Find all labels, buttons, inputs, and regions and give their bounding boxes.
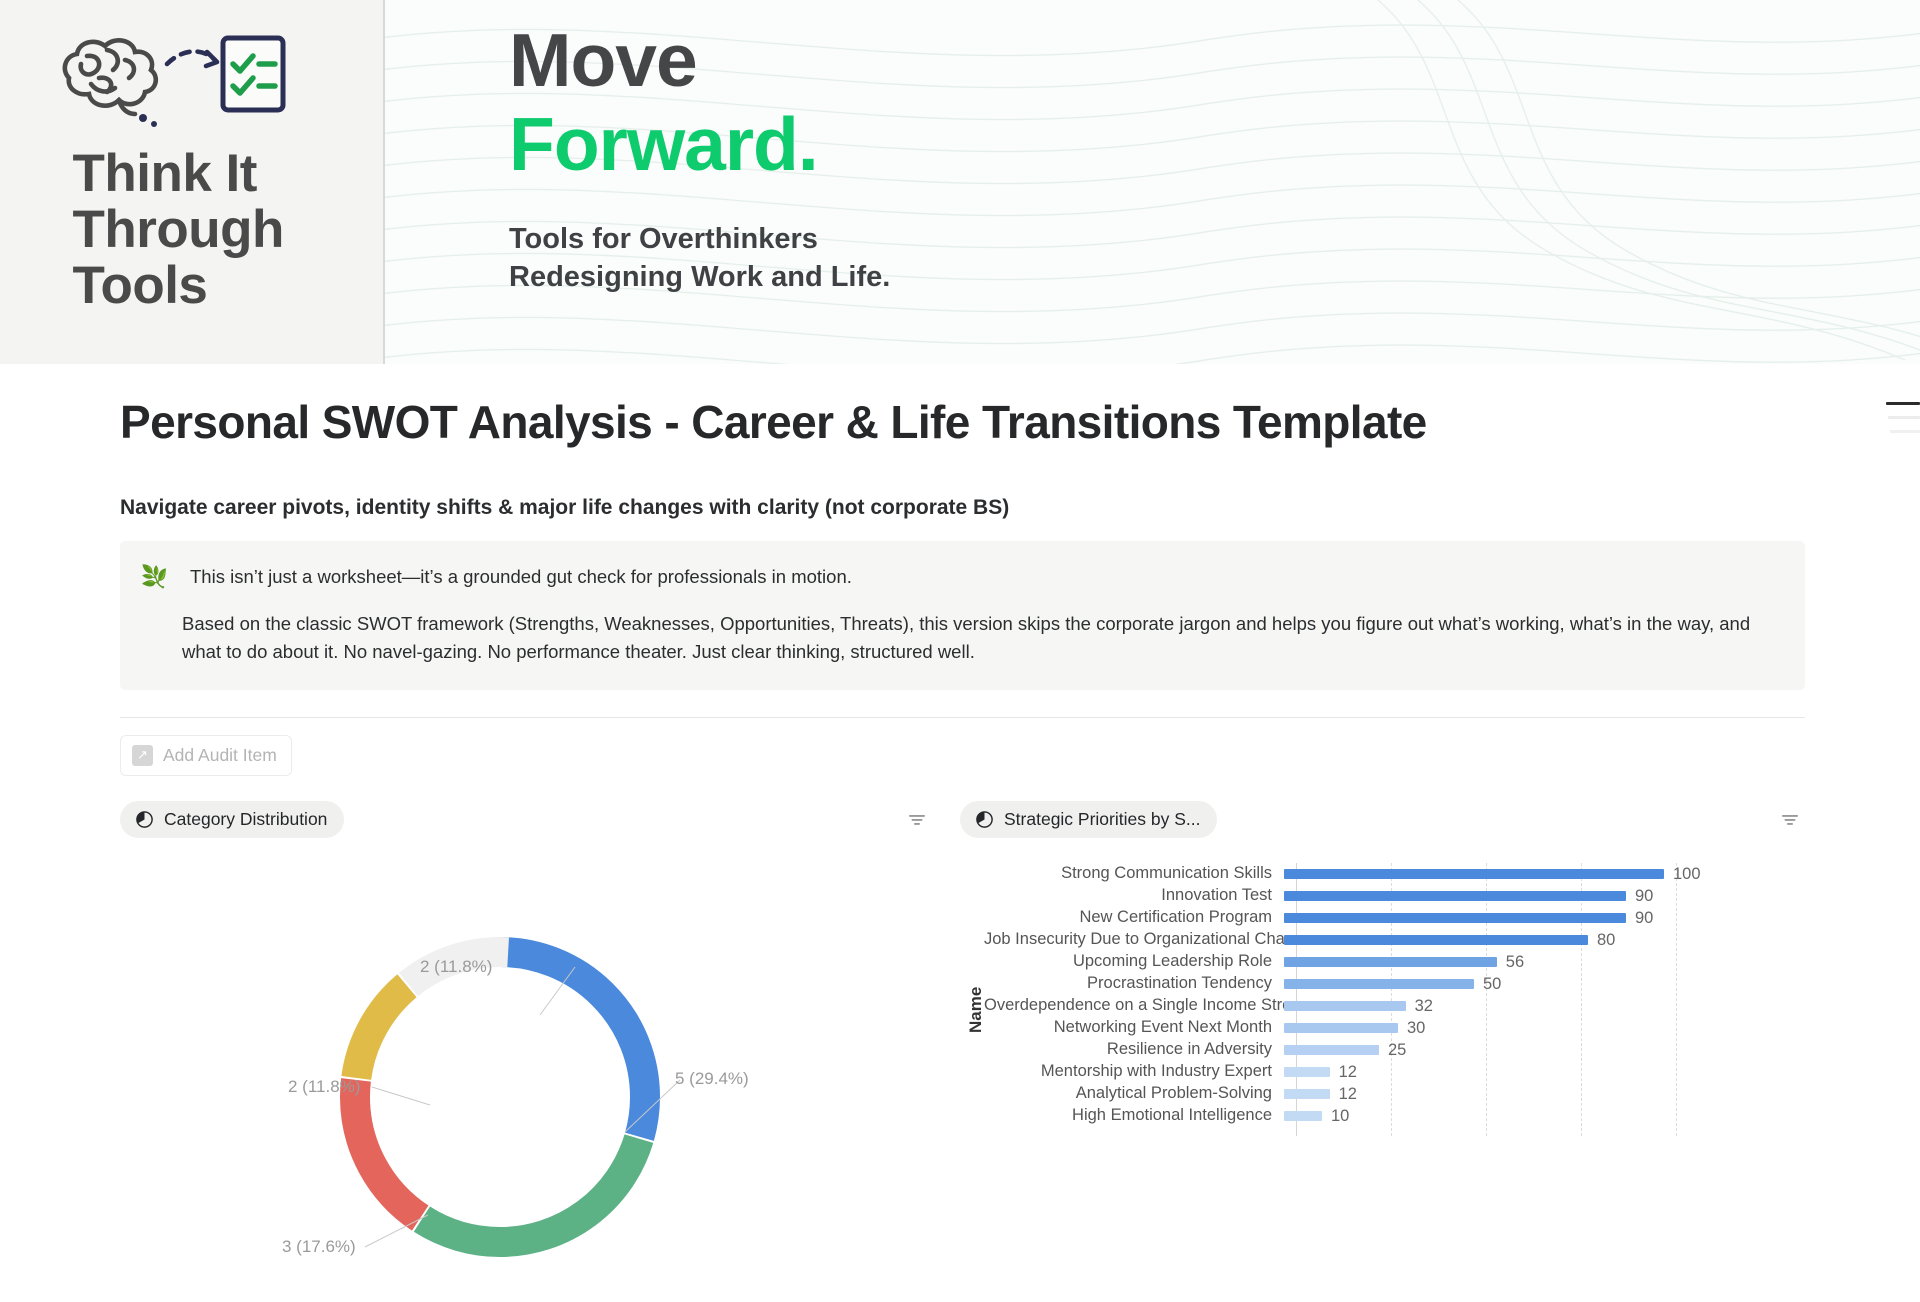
bar-fill	[1284, 1045, 1379, 1055]
edge-mark-secondary[interactable]	[1888, 416, 1920, 419]
strategic-priorities-header: Strategic Priorities by S...	[960, 801, 1805, 839]
donut-label-blue: 5 (29.4%)	[675, 1069, 749, 1089]
bar-track: 12	[1284, 1061, 1805, 1083]
category-distribution-header: Category Distribution	[120, 801, 932, 839]
bar-chart-row[interactable]: Overdependence on a Single Income Stre..…	[984, 995, 1805, 1017]
bar-label: Networking Event Next Month	[984, 1018, 1284, 1037]
bar-track: 10	[1284, 1105, 1805, 1127]
bar-chart-row[interactable]: Strong Communication Skills100	[984, 863, 1805, 885]
bar-track: 80	[1284, 929, 1805, 951]
callout-paragraph: Based on the classic SWOT framework (Str…	[182, 610, 1752, 666]
bar-fill	[1284, 1023, 1398, 1033]
bookmark-icon: 🌿	[142, 563, 168, 666]
bar-chart: Name Strong Communication Skills100Innov…	[960, 863, 1805, 1293]
logo-mark	[42, 26, 342, 136]
bar-value-label: 80	[1597, 931, 1615, 950]
page-edge-menu[interactable]	[1886, 402, 1920, 433]
bar-value-label: 90	[1635, 909, 1653, 928]
bar-track: 25	[1284, 1039, 1805, 1061]
bar-value-label: 50	[1483, 975, 1501, 994]
bar-chart-row[interactable]: High Emotional Intelligence10	[984, 1105, 1805, 1127]
pie-chart-icon	[135, 810, 154, 829]
bar-label: Innovation Test	[984, 886, 1284, 905]
bar-fill	[1284, 869, 1664, 879]
donut-chart: 5 (29.4%) 2 (11.8%) 2 (11.8%) 3 (17.6%)	[120, 867, 932, 1297]
bar-label: Mentorship with Industry Expert	[984, 1062, 1284, 1081]
pie-chart-icon	[975, 810, 994, 829]
donut-chart-svg	[120, 867, 932, 1297]
bar-chart-row[interactable]: Analytical Problem-Solving12	[984, 1083, 1805, 1105]
bar-track: 90	[1284, 885, 1805, 907]
bar-chart-row[interactable]: Mentorship with Industry Expert12	[984, 1061, 1805, 1083]
bar-value-label: 100	[1673, 865, 1701, 884]
bar-value-label: 10	[1331, 1107, 1349, 1126]
hero-subline-2: Redesigning Work and Life.	[509, 258, 890, 296]
bar-track: 32	[1284, 995, 1805, 1017]
bar-chart-row[interactable]: Job Insecurity Due to Organizational Cha…	[984, 929, 1805, 951]
chip-strategic-priorities-label: Strategic Priorities by S...	[1004, 809, 1200, 830]
bar-value-label: 25	[1388, 1041, 1406, 1060]
bar-fill	[1284, 1111, 1322, 1121]
intro-callout: 🌿 This isn’t just a worksheet—it’s a gro…	[120, 541, 1805, 690]
hero-headline-line-1: Move	[509, 18, 890, 102]
add-audit-item-label: Add Audit Item	[163, 745, 277, 766]
bar-label: Analytical Problem-Solving	[984, 1084, 1284, 1103]
bar-track: 56	[1284, 951, 1805, 973]
logo-wordmark-line-2: Through	[73, 202, 317, 258]
bar-value-label: 12	[1339, 1085, 1357, 1104]
bar-track: 50	[1284, 973, 1805, 995]
bar-chart-row[interactable]: Networking Event Next Month30	[984, 1017, 1805, 1039]
bar-label: Upcoming Leadership Role	[984, 952, 1284, 971]
add-audit-item-button[interactable]: ↗ Add Audit Item	[120, 735, 292, 776]
bar-fill	[1284, 935, 1588, 945]
page-subtitle: Navigate career pivots, identity shifts …	[120, 496, 1800, 520]
bar-fill	[1284, 1067, 1330, 1077]
logo-block: Think It Through Tools	[0, 0, 385, 364]
bar-value-label: 56	[1506, 953, 1524, 972]
bar-fill	[1284, 979, 1474, 989]
edge-mark-tertiary[interactable]	[1890, 430, 1920, 433]
category-distribution-panel: Category Distribution	[120, 801, 932, 1297]
bar-fill	[1284, 1089, 1330, 1099]
hero-block: Move Forward. Tools for Overthinkers Red…	[385, 0, 1920, 364]
logo-wordmark-line-1: Think It	[73, 146, 317, 202]
bar-chart-row[interactable]: New Certification Program90	[984, 907, 1805, 929]
bar-track: 12	[1284, 1083, 1805, 1105]
bar-fill	[1284, 913, 1626, 923]
bar-track: 90	[1284, 907, 1805, 929]
filter-icon	[1781, 813, 1799, 827]
bar-chart-row[interactable]: Procrastination Tendency50	[984, 973, 1805, 995]
filter-icon-left[interactable]	[902, 809, 932, 831]
bar-track: 100	[1284, 863, 1805, 885]
bar-chart-rows: Strong Communication Skills100Innovation…	[984, 863, 1805, 1127]
logo-wordmark-line-3: Tools	[73, 258, 317, 314]
hero-headline-line-2: Forward.	[509, 102, 890, 186]
filter-icon-right[interactable]	[1775, 809, 1805, 831]
bar-label: Job Insecurity Due to Organizational Cha…	[984, 930, 1284, 949]
donut-label-gray: 2 (11.8%)	[420, 957, 492, 977]
bar-value-label: 90	[1635, 887, 1653, 906]
strategic-priorities-panel: Strategic Priorities by S... Name Strong…	[960, 801, 1805, 1297]
logo-wordmark: Think It Through Tools	[67, 146, 317, 315]
bar-chart-y-axis-label: Name	[966, 987, 986, 1033]
page-title: Personal SWOT Analysis - Career & Life T…	[120, 396, 1800, 449]
bar-chart-row[interactable]: Innovation Test90	[984, 885, 1805, 907]
document-body: Personal SWOT Analysis - Career & Life T…	[0, 364, 1920, 1199]
bar-value-label: 12	[1339, 1063, 1357, 1082]
bar-fill	[1284, 957, 1497, 967]
donut-label-yellow: 2 (11.8%)	[288, 1077, 360, 1097]
bar-track: 30	[1284, 1017, 1805, 1039]
bar-chart-row[interactable]: Upcoming Leadership Role56	[984, 951, 1805, 973]
bar-fill	[1284, 1001, 1406, 1011]
bar-value-label: 32	[1415, 997, 1433, 1016]
site-banner: Think It Through Tools	[0, 0, 1920, 364]
external-link-icon: ↗	[132, 745, 153, 766]
chip-category-distribution[interactable]: Category Distribution	[120, 801, 344, 838]
filter-icon	[908, 813, 926, 827]
charts-row: Category Distribution	[120, 801, 1805, 1297]
bar-label: Overdependence on a Single Income Stre..…	[984, 996, 1284, 1015]
bar-value-label: 30	[1407, 1019, 1425, 1038]
brain-checklist-icon	[47, 26, 337, 136]
bar-label: Strong Communication Skills	[984, 864, 1284, 883]
bar-label: Resilience in Adversity	[984, 1040, 1284, 1059]
donut-label-red: 3 (17.6%)	[282, 1237, 356, 1257]
hero-text: Move Forward. Tools for Overthinkers Red…	[509, 18, 890, 297]
bar-label: High Emotional Intelligence	[984, 1106, 1284, 1125]
bar-fill	[1284, 891, 1626, 901]
hero-subline-1: Tools for Overthinkers	[509, 220, 890, 258]
callout-lead-text: This isn’t just a worksheet—it’s a groun…	[182, 563, 1779, 591]
edge-mark-primary[interactable]	[1886, 402, 1920, 405]
section-divider	[120, 717, 1805, 718]
bar-label: New Certification Program	[984, 908, 1284, 927]
chip-strategic-priorities[interactable]: Strategic Priorities by S...	[960, 801, 1217, 838]
chip-category-distribution-label: Category Distribution	[164, 809, 327, 830]
bar-chart-row[interactable]: Resilience in Adversity25	[984, 1039, 1805, 1061]
hero-subline: Tools for Overthinkers Redesigning Work …	[509, 220, 890, 297]
bar-label: Procrastination Tendency	[984, 974, 1284, 993]
